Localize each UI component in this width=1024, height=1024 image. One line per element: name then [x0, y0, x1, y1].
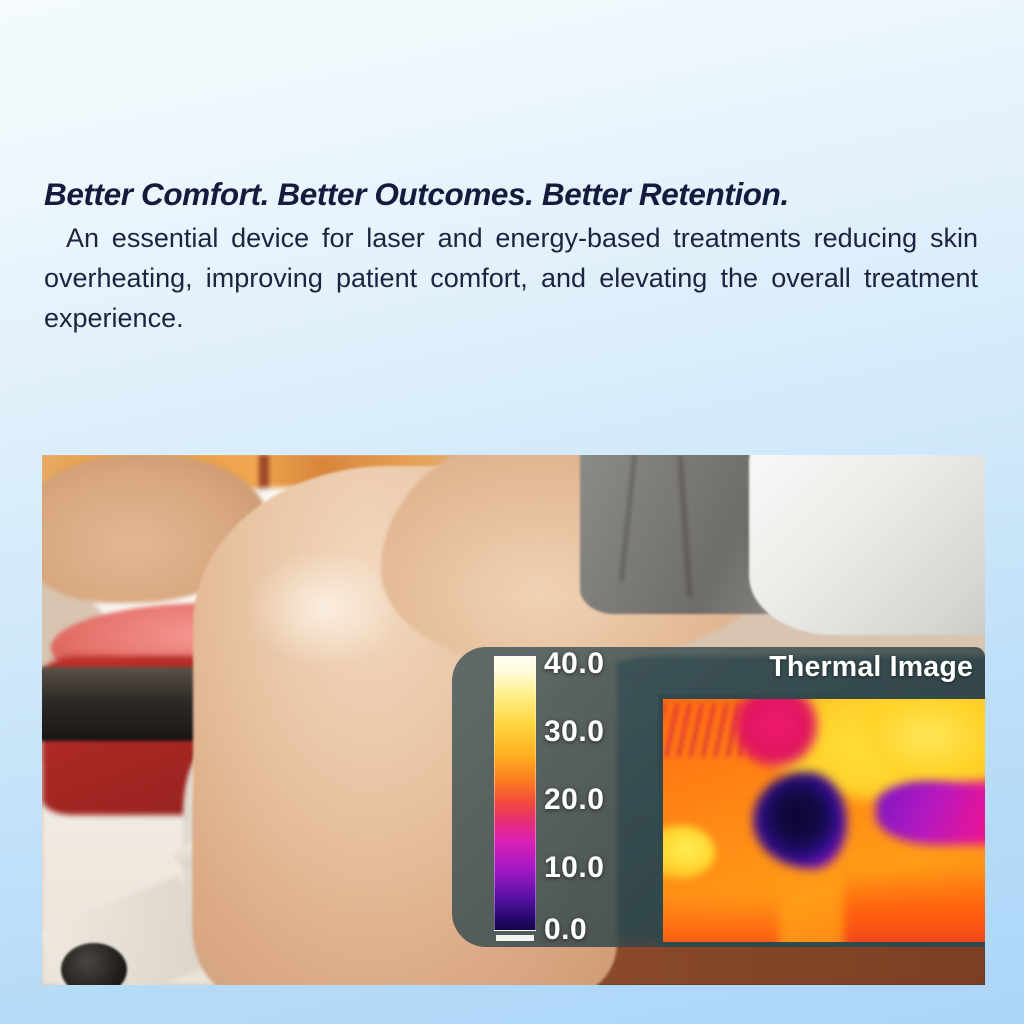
body-paragraph: An essential device for laser and energy… — [44, 219, 978, 379]
slide-canvas: Better Comfort. Better Outcomes. Better … — [0, 0, 1024, 1024]
temperature-colorbar — [494, 655, 536, 940]
thermal-image-label: Thermal Image — [769, 651, 973, 684]
text-block: Better Comfort. Better Outcomes. Better … — [44, 176, 980, 379]
thermogram-frame — [658, 694, 985, 947]
colorbar-tick-30: 30.0 — [544, 715, 604, 749]
colorbar-tick-10: 10.0 — [544, 851, 604, 885]
clinical-photo: Thermal Image 40.0 30.0 20.0 10.0 0.0 — [42, 455, 985, 985]
thermogram-cool-region — [876, 782, 985, 845]
thermal-overlay-panel: Thermal Image 40.0 30.0 20.0 10.0 0.0 — [452, 647, 985, 947]
photo-knee-highlight — [249, 550, 400, 667]
thermogram-warm-region — [658, 893, 779, 947]
colorbar-base-marker — [496, 935, 534, 941]
colorbar-tick-labels: 40.0 30.0 20.0 10.0 0.0 — [544, 647, 674, 947]
headline: Better Comfort. Better Outcomes. Better … — [44, 176, 980, 213]
thermogram-warm-region — [844, 869, 985, 947]
colorbar-tick-40: 40.0 — [544, 647, 604, 681]
photo-towel — [749, 455, 985, 635]
colorbar-gradient — [494, 655, 536, 931]
colorbar-tick-20: 20.0 — [544, 783, 604, 817]
colorbar-tick-0: 0.0 — [544, 913, 587, 947]
